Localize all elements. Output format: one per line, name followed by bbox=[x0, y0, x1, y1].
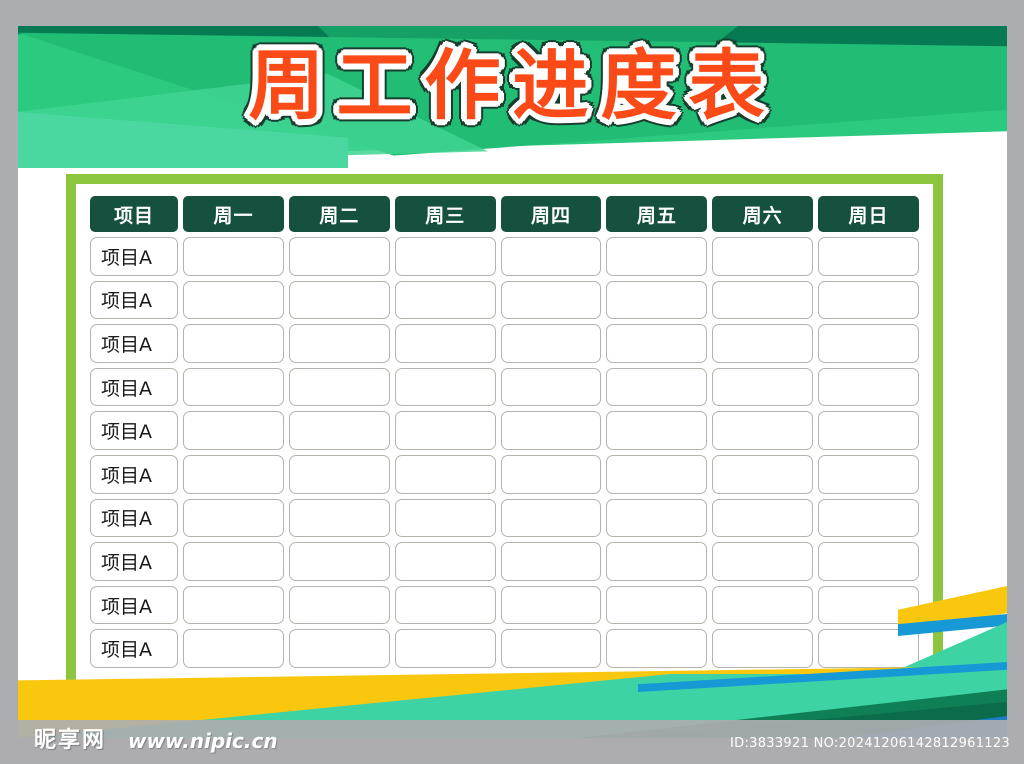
schedule-cell[interactable] bbox=[501, 237, 602, 276]
schedule-cell[interactable] bbox=[289, 237, 390, 276]
schedule-cell[interactable] bbox=[183, 586, 284, 625]
table-header-row: 项目 周一 周二 周三 周四 周五 周六 周日 bbox=[90, 196, 919, 232]
table-row: 项目A bbox=[90, 455, 919, 494]
schedule-cell[interactable] bbox=[395, 368, 496, 407]
schedule-cell[interactable] bbox=[289, 499, 390, 538]
table-row: 项目A bbox=[90, 368, 919, 407]
watermark-url: www.nipic.cn bbox=[128, 729, 278, 753]
row-label-cell[interactable]: 项目A bbox=[90, 586, 178, 625]
schedule-cell[interactable] bbox=[289, 324, 390, 363]
schedule-cell[interactable] bbox=[712, 368, 813, 407]
schedule-cell[interactable] bbox=[289, 411, 390, 450]
schedule-cell[interactable] bbox=[395, 324, 496, 363]
column-header-thursday: 周四 bbox=[501, 196, 602, 232]
schedule-cell[interactable] bbox=[501, 586, 602, 625]
column-header-item: 项目 bbox=[90, 196, 178, 232]
schedule-cell[interactable] bbox=[818, 455, 919, 494]
schedule-cell[interactable] bbox=[289, 586, 390, 625]
column-header-sunday: 周日 bbox=[818, 196, 919, 232]
schedule-table-body: 项目A项目A项目A项目A项目A项目A项目A项目A项目A项目A bbox=[90, 237, 919, 668]
schedule-cell[interactable] bbox=[606, 368, 707, 407]
schedule-cell[interactable] bbox=[712, 411, 813, 450]
schedule-cell[interactable] bbox=[183, 455, 284, 494]
schedule-cell[interactable] bbox=[818, 281, 919, 320]
row-label-cell[interactable]: 项目A bbox=[90, 455, 178, 494]
schedule-cell[interactable] bbox=[183, 499, 284, 538]
row-label-cell[interactable]: 项目A bbox=[90, 368, 178, 407]
schedule-cell[interactable] bbox=[818, 499, 919, 538]
schedule-cell[interactable] bbox=[395, 542, 496, 581]
schedule-cell[interactable] bbox=[395, 499, 496, 538]
schedule-cell[interactable] bbox=[606, 281, 707, 320]
schedule-cell[interactable] bbox=[712, 281, 813, 320]
schedule-cell[interactable] bbox=[501, 629, 602, 668]
poster-canvas: 周工作进度表 项目 周一 周二 周三 周四 周五 周六 周日 bbox=[18, 26, 1007, 738]
schedule-cell[interactable] bbox=[395, 586, 496, 625]
footer-watermark-bar: 昵享网 www.nipic.cn ID:3833921 NO:202412061… bbox=[0, 720, 1024, 764]
table-row: 项目A bbox=[90, 237, 919, 276]
row-label-cell[interactable]: 项目A bbox=[90, 499, 178, 538]
schedule-cell[interactable] bbox=[606, 324, 707, 363]
schedule-cell[interactable] bbox=[501, 455, 602, 494]
schedule-cell[interactable] bbox=[501, 281, 602, 320]
schedule-cell[interactable] bbox=[501, 368, 602, 407]
schedule-cell[interactable] bbox=[606, 499, 707, 538]
schedule-cell[interactable] bbox=[395, 281, 496, 320]
schedule-cell[interactable] bbox=[712, 629, 813, 668]
poster-root: 周工作进度表 项目 周一 周二 周三 周四 周五 周六 周日 bbox=[0, 0, 1024, 764]
column-header-monday: 周一 bbox=[183, 196, 284, 232]
schedule-cell[interactable] bbox=[395, 237, 496, 276]
schedule-cell[interactable] bbox=[818, 368, 919, 407]
schedule-table-head: 项目 周一 周二 周三 周四 周五 周六 周日 bbox=[90, 196, 919, 232]
schedule-cell[interactable] bbox=[712, 499, 813, 538]
table-row: 项目A bbox=[90, 411, 919, 450]
schedule-cell[interactable] bbox=[289, 455, 390, 494]
column-header-wednesday: 周三 bbox=[395, 196, 496, 232]
schedule-cell[interactable] bbox=[501, 324, 602, 363]
schedule-cell[interactable] bbox=[712, 586, 813, 625]
schedule-cell[interactable] bbox=[183, 368, 284, 407]
schedule-cell[interactable] bbox=[606, 542, 707, 581]
schedule-cell[interactable] bbox=[183, 542, 284, 581]
schedule-cell[interactable] bbox=[183, 411, 284, 450]
schedule-cell[interactable] bbox=[606, 455, 707, 494]
table-row: 项目A bbox=[90, 324, 919, 363]
schedule-cell[interactable] bbox=[712, 455, 813, 494]
page-title: 周工作进度表 bbox=[18, 48, 1007, 124]
schedule-cell[interactable] bbox=[289, 368, 390, 407]
table-row: 项目A bbox=[90, 542, 919, 581]
schedule-table: 项目 周一 周二 周三 周四 周五 周六 周日 项目A项目A项目A项目A项目A项… bbox=[85, 191, 924, 673]
schedule-cell[interactable] bbox=[818, 324, 919, 363]
schedule-cell[interactable] bbox=[501, 542, 602, 581]
schedule-cell[interactable] bbox=[183, 324, 284, 363]
table-row: 项目A bbox=[90, 281, 919, 320]
row-label-cell[interactable]: 项目A bbox=[90, 411, 178, 450]
schedule-cell[interactable] bbox=[712, 237, 813, 276]
schedule-cell[interactable] bbox=[501, 499, 602, 538]
schedule-panel-frame: 项目 周一 周二 周三 周四 周五 周六 周日 项目A项目A项目A项目A项目A项… bbox=[66, 174, 943, 692]
schedule-cell[interactable] bbox=[395, 629, 496, 668]
watermark-logo: 昵享网 bbox=[34, 722, 106, 754]
row-label-cell[interactable]: 项目A bbox=[90, 542, 178, 581]
schedule-cell[interactable] bbox=[818, 237, 919, 276]
schedule-cell[interactable] bbox=[289, 281, 390, 320]
row-label-cell[interactable]: 项目A bbox=[90, 237, 178, 276]
row-label-cell[interactable]: 项目A bbox=[90, 281, 178, 320]
table-row: 项目A bbox=[90, 586, 919, 625]
schedule-cell[interactable] bbox=[818, 542, 919, 581]
schedule-cell[interactable] bbox=[606, 237, 707, 276]
schedule-cell[interactable] bbox=[183, 281, 284, 320]
schedule-cell[interactable] bbox=[712, 324, 813, 363]
schedule-cell[interactable] bbox=[712, 542, 813, 581]
column-header-saturday: 周六 bbox=[712, 196, 813, 232]
schedule-cell[interactable] bbox=[501, 411, 602, 450]
table-row: 项目A bbox=[90, 499, 919, 538]
schedule-cell[interactable] bbox=[183, 629, 284, 668]
row-label-cell[interactable]: 项目A bbox=[90, 324, 178, 363]
row-label-cell[interactable]: 项目A bbox=[90, 629, 178, 668]
schedule-panel-inner: 项目 周一 周二 周三 周四 周五 周六 周日 项目A项目A项目A项目A项目A项… bbox=[76, 184, 933, 682]
schedule-cell[interactable] bbox=[606, 411, 707, 450]
schedule-cell[interactable] bbox=[395, 411, 496, 450]
schedule-cell[interactable] bbox=[183, 237, 284, 276]
schedule-cell[interactable] bbox=[395, 455, 496, 494]
column-header-tuesday: 周二 bbox=[289, 196, 390, 232]
column-header-friday: 周五 bbox=[606, 196, 707, 232]
schedule-cell[interactable] bbox=[289, 542, 390, 581]
schedule-cell[interactable] bbox=[289, 629, 390, 668]
schedule-cell[interactable] bbox=[606, 629, 707, 668]
schedule-cell[interactable] bbox=[606, 586, 707, 625]
image-id-label: ID:3833921 NO:20241206142812961123 bbox=[730, 736, 1010, 751]
table-row: 项目A bbox=[90, 629, 919, 668]
schedule-cell[interactable] bbox=[818, 411, 919, 450]
